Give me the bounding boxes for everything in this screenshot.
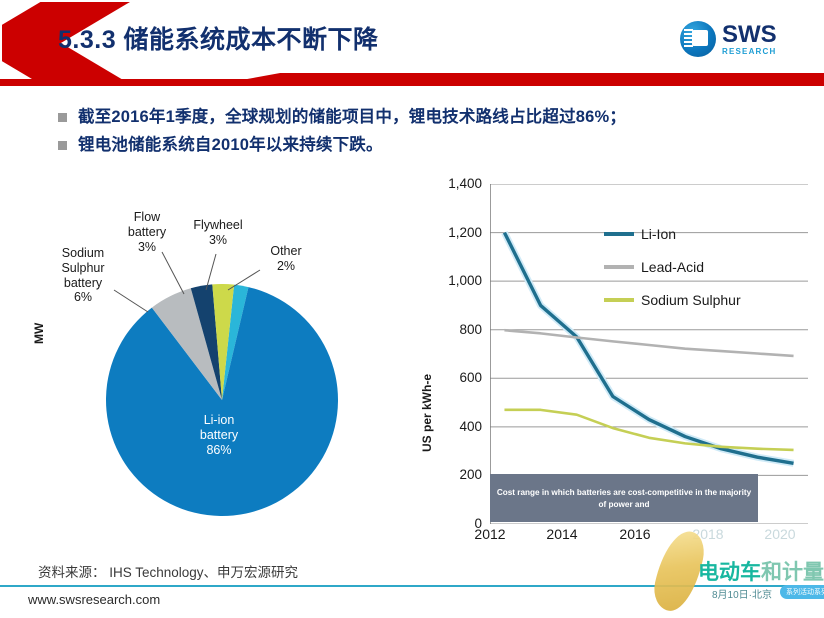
line-chart: US per kWh-e 0 200 400 600 800 1,000 1,2… xyxy=(414,184,810,554)
x-tick: 2012 xyxy=(474,526,505,542)
legend-swatch-li-ion xyxy=(604,232,634,236)
logo-brand-sub: RESEARCH xyxy=(722,48,777,56)
footer-url[interactable]: www.swsresearch.com xyxy=(28,592,160,607)
page-title: 5.3.3 储能系统成本不断下降 xyxy=(58,20,379,56)
legend-item-sodium-sulphur: Sodium Sulphur xyxy=(604,292,741,308)
pie-chart: MW Flow battery 3% Flywheel 3% Other 2% … xyxy=(24,186,414,536)
y-tick: 1,400 xyxy=(426,176,482,191)
pie-svg xyxy=(106,284,338,516)
pie-y-axis-label: MW xyxy=(32,323,46,344)
list-item: 截至2016年1季度，全球规划的储能项目中，锂电技术路线占比超过86%； xyxy=(58,106,798,128)
slide-header: 5.3.3 储能系统成本不断下降 SWS RESEARCH xyxy=(0,0,824,86)
pie-label-li-ion: Li-ion battery 86% xyxy=(164,413,274,458)
list-item: 锂电池储能系统自2010年以来持续下跌。 xyxy=(58,134,798,156)
watermark-title-a: 电动车 xyxy=(698,561,761,584)
y-tick: 200 xyxy=(426,467,482,482)
y-tick: 400 xyxy=(426,419,482,434)
sws-logo-text: SWS RESEARCH xyxy=(722,23,777,56)
pie-label-sodium-sulphur: Sodium Sulphur battery 6% xyxy=(52,246,114,305)
bullet-text: 锂电池储能系统自2010年以来持续下跌。 xyxy=(78,134,383,156)
legend-swatch-lead-acid xyxy=(604,265,634,269)
sws-logo-mark-icon xyxy=(680,21,716,57)
legend-label-li-ion: Li-Ion xyxy=(641,226,676,242)
legend-item-li-ion: Li-Ion xyxy=(604,226,676,242)
logo-brand-name: SWS xyxy=(722,23,777,47)
sws-logo: SWS RESEARCH xyxy=(680,16,806,62)
cost-range-annotation-text: Cost range in which batteries are cost-c… xyxy=(496,487,752,511)
x-tick: 2018 xyxy=(692,526,723,542)
legend-label-lead-acid: Lead-Acid xyxy=(641,259,704,275)
watermark-title-b: 和计量 xyxy=(761,561,824,584)
bullet-square-icon xyxy=(58,113,67,122)
source-note: 资料来源： IHS Technology、申万宏源研究 xyxy=(38,561,298,581)
x-tick: 2016 xyxy=(619,526,650,542)
watermark-badge: 系列活动系列 xyxy=(780,585,824,599)
bullet-text: 截至2016年1季度，全球规划的储能项目中，锂电技术路线占比超过86%； xyxy=(78,106,626,128)
watermark-subtitle: 8月10日·北京 xyxy=(712,586,772,601)
header-red-bar xyxy=(0,73,824,86)
cost-range-annotation: Cost range in which batteries are cost-c… xyxy=(490,474,758,522)
pie-label-flow-battery: Flow battery 3% xyxy=(118,210,176,254)
x-tick: 2014 xyxy=(546,526,577,542)
line-series-lead-acid xyxy=(504,330,793,356)
pie-graphic xyxy=(106,284,338,516)
legend-label-sodium-sulphur: Sodium Sulphur xyxy=(641,292,741,308)
legend-swatch-sodium-sulphur xyxy=(604,298,634,302)
y-tick: 800 xyxy=(426,322,482,337)
watermark-title: 电动车和计量 xyxy=(698,556,824,586)
bullet-square-icon xyxy=(58,141,67,150)
bullet-list: 截至2016年1季度，全球规划的储能项目中，锂电技术路线占比超过86%； 锂电池… xyxy=(58,106,798,163)
pie-label-flywheel: Flywheel 3% xyxy=(186,218,250,248)
line-y-tick-labels: 0 200 400 600 800 1,000 1,200 1,400 xyxy=(426,184,482,524)
y-tick: 600 xyxy=(426,370,482,385)
legend-item-lead-acid: Lead-Acid xyxy=(604,259,704,275)
y-tick: 1,000 xyxy=(426,273,482,288)
y-tick: 1,200 xyxy=(426,225,482,240)
x-tick: 2020 xyxy=(764,526,795,542)
line-x-tick-labels: 2012 2014 2016 2018 2020 xyxy=(414,526,810,554)
footer-divider xyxy=(0,585,824,587)
pie-label-other: Other 2% xyxy=(262,244,310,274)
